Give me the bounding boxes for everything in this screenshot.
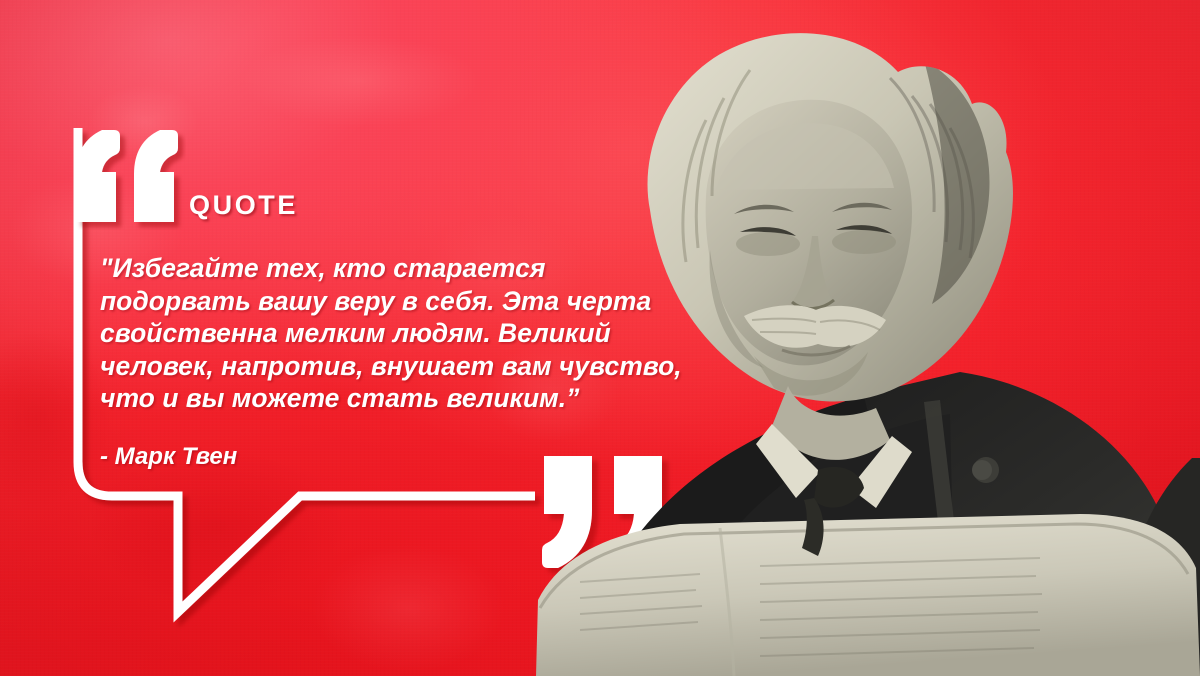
quote-card: QUOTE "Избегайте тех, кто старается подо…: [0, 0, 1200, 676]
portrait-photo: [520, 0, 1200, 676]
quote-attribution: - Марк Твен: [100, 443, 237, 471]
opening-quote-mark-icon: [68, 118, 186, 230]
newspaper: [536, 514, 1200, 676]
quote-label: QUOTE: [189, 190, 298, 221]
